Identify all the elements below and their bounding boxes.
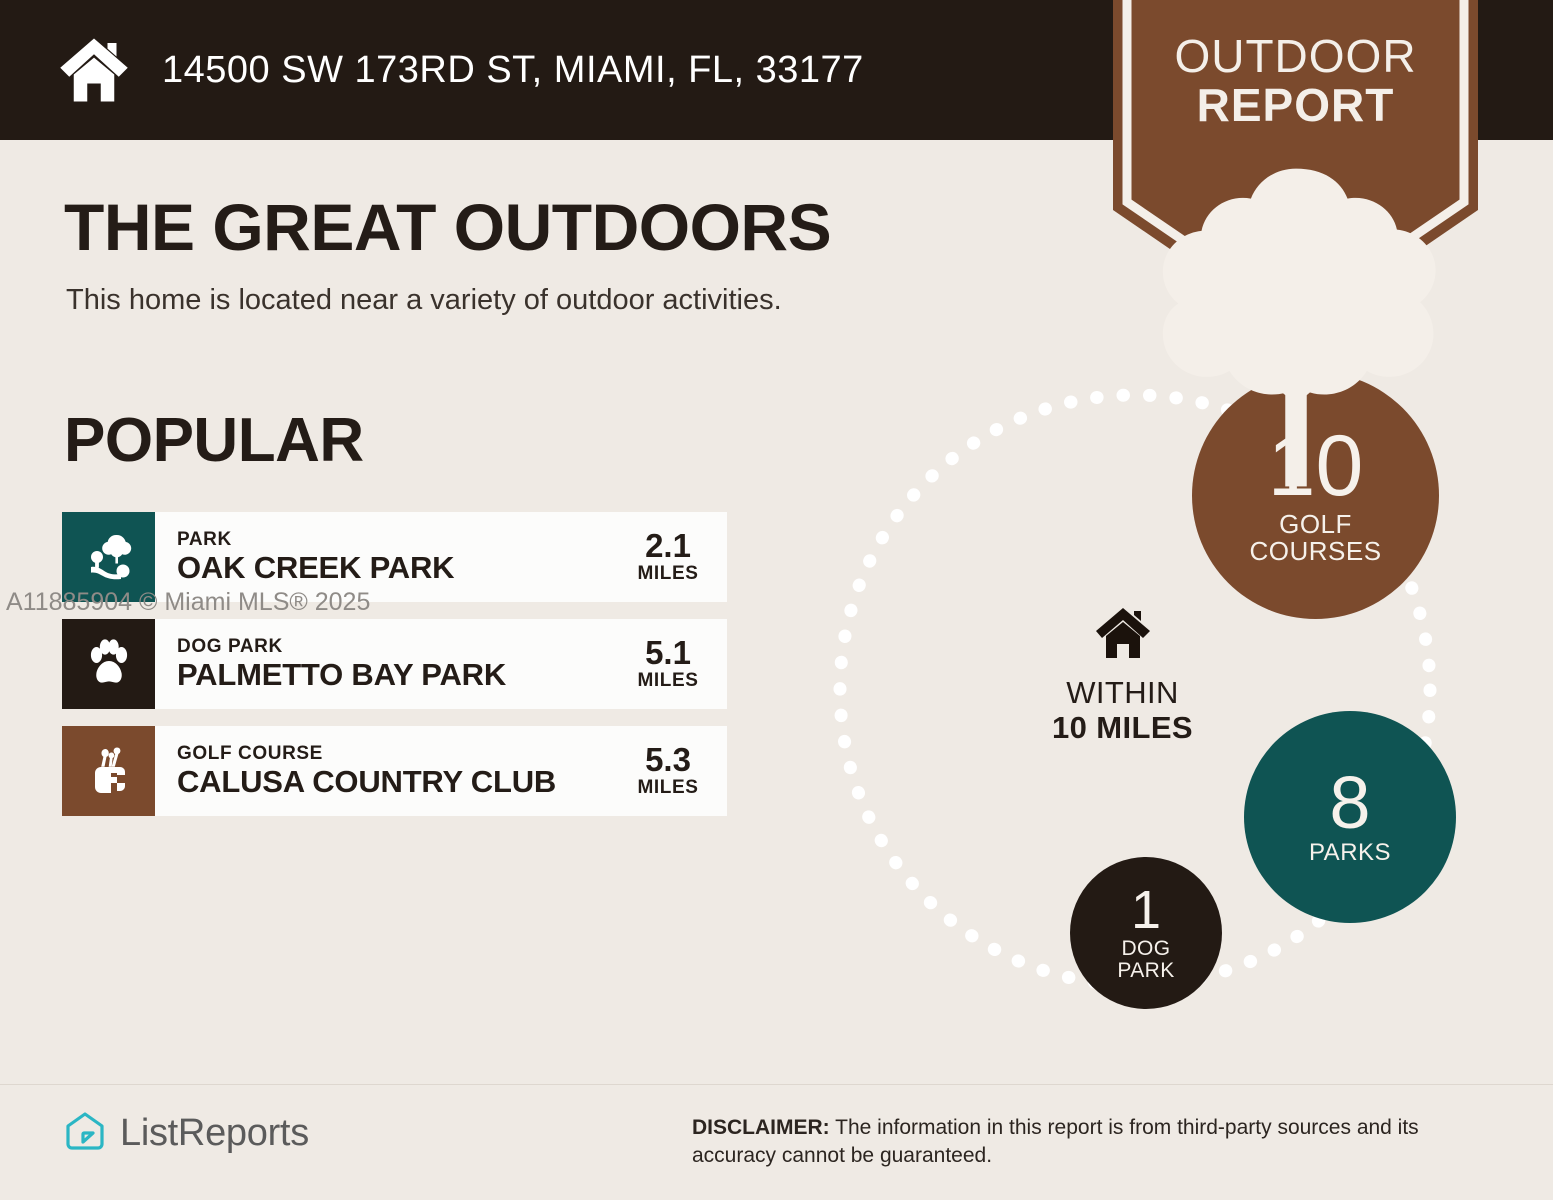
poi-distance-unit: MILES [637,563,698,585]
brand-name: ListReports [120,1112,309,1155]
footer-divider [0,1084,1553,1085]
list-item[interactable]: GOLF COURSE CALUSA COUNTRY CLUB 5.3 MILE… [62,726,727,816]
poi-text: DOG PARK PALMETTO BAY PARK [155,619,617,709]
poi-distance: 5.3 MILES [617,726,727,816]
poi-distance-unit: MILES [637,777,698,799]
stat-label: DOG PARK [1117,938,1174,982]
center-label-line2: 10 MILES [1030,711,1215,746]
poi-text: GOLF COURSE CALUSA COUNTRY CLUB [155,726,617,816]
poi-distance: 2.1 MILES [617,512,727,602]
paw-print-icon [83,638,135,690]
stat-circle-parks[interactable]: 8 PARKS [1244,711,1456,923]
poi-name: PALMETTO BAY PARK [177,658,617,692]
badge-title: OUTDOOR REPORT [1113,32,1478,130]
poi-name: OAK CREEK PARK [177,551,617,585]
poi-name: CALUSA COUNTRY CLUB [177,765,617,799]
listreports-logo-icon [62,1110,108,1156]
popular-list: PARK OAK CREEK PARK 2.1 MILES DOG PARK P… [62,512,727,833]
poi-distance: 5.1 MILES [617,619,727,709]
stat-label-line1: GOLF [1249,511,1381,538]
poi-distance-unit: MILES [637,670,698,692]
property-address: 14500 SW 173RD ST, MIAMI, FL, 33177 [162,49,864,92]
stat-circle-dog-park[interactable]: 1 DOG PARK [1070,857,1222,1009]
outdoor-report-badge: OUTDOOR REPORT [1113,0,1478,335]
tree-icon [1113,160,1478,495]
poi-distance-value: 5.1 [645,636,691,671]
poi-distance-value: 2.1 [645,529,691,564]
page-subtitle: This home is located near a variety of o… [66,284,782,317]
page-title: THE GREAT OUTDOORS [64,194,831,260]
poi-category: GOLF COURSE [177,743,617,765]
poi-distance-value: 5.3 [645,743,691,778]
poi-icon-box [62,619,155,709]
stat-label-line1: PARKS [1309,841,1391,866]
stat-label: GOLF COURSES [1249,511,1381,565]
poi-category: DOG PARK [177,636,617,658]
stat-label: PARKS [1309,841,1391,866]
golf-bag-icon [83,745,135,797]
stat-count: 1 [1131,885,1161,936]
home-icon [1094,606,1152,660]
stat-label-line2: PARK [1117,960,1174,982]
section-title-popular: POPULAR [64,410,364,472]
disclaimer-label: DISCLAIMER: [692,1116,830,1139]
disclaimer: DISCLAIMER: The information in this repo… [692,1114,1492,1171]
badge-title-line2: REPORT [1113,81,1478,130]
stat-label-line1: DOG [1117,938,1174,960]
home-icon [58,36,130,104]
mls-watermark: A11885904 © Miami MLS® 2025 [6,588,370,617]
stat-label-line2: COURSES [1249,538,1381,565]
list-item[interactable]: DOG PARK PALMETTO BAY PARK 5.1 MILES [62,619,727,709]
poi-category: PARK [177,529,617,551]
badge-title-line1: OUTDOOR [1113,32,1478,81]
center-label-line1: WITHIN [1030,676,1215,711]
diagram-center-label: WITHIN 10 MILES [1030,606,1215,745]
poi-icon-box [62,726,155,816]
park-trees-icon [83,531,135,583]
stat-count: 8 [1329,768,1370,838]
listreports-brand[interactable]: ListReports [62,1110,309,1156]
